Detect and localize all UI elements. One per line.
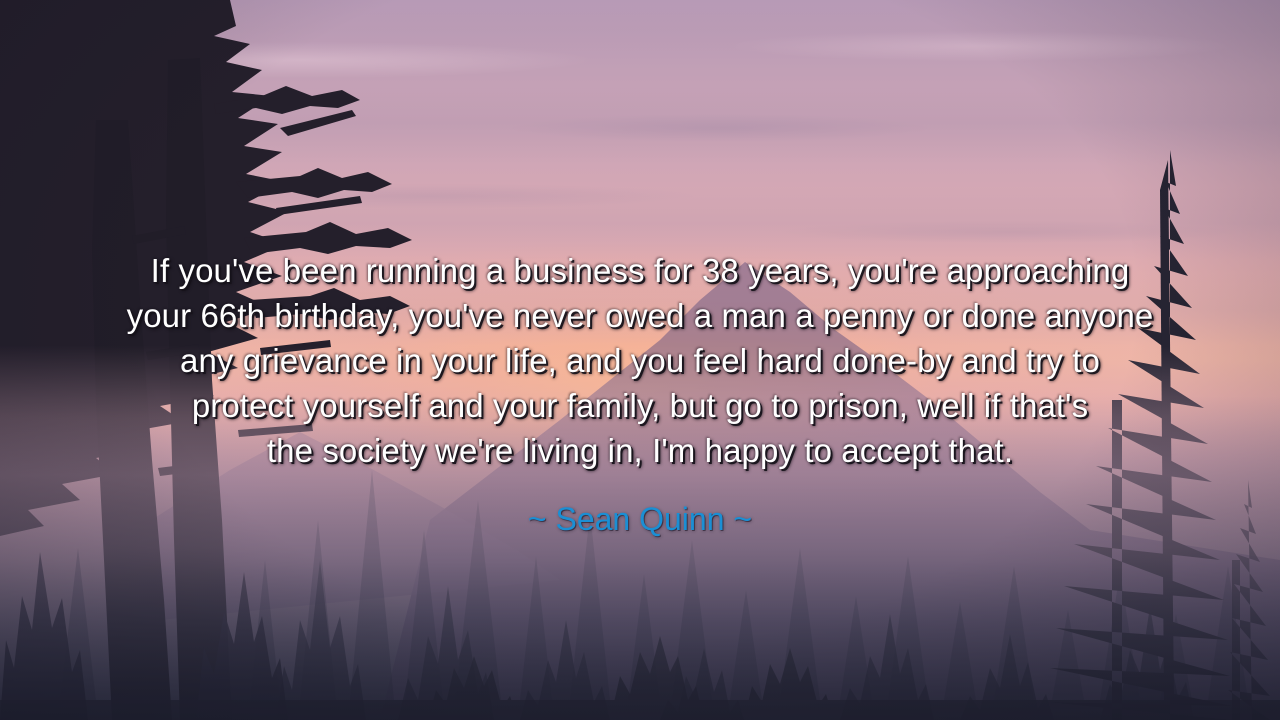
quote-block: If you've been running a business for 38… [0, 248, 1280, 539]
quote-card: If you've been running a business for 38… [0, 0, 1280, 720]
quote-attribution: ~ Sean Quinn ~ [0, 473, 1280, 539]
quote-text: If you've been running a business for 38… [0, 248, 1280, 473]
